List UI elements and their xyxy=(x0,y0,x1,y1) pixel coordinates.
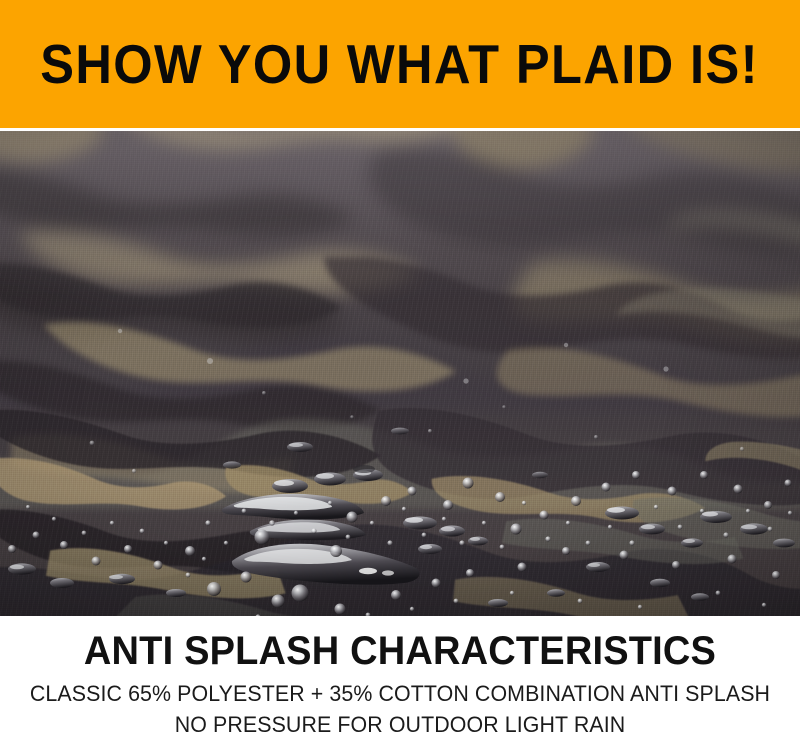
product-feature-poster: SHOW YOU WHAT PLAID IS! xyxy=(0,0,800,751)
caption-subtitle-line-1: CLASSIC 65% POLYESTER + 35% COTTON COMBI… xyxy=(20,679,780,709)
caption-subtitle-line-2: NO PRESSURE FOR OUTDOOR LIGHT RAIN xyxy=(20,710,780,740)
header-title: SHOW YOU WHAT PLAID IS! xyxy=(41,37,760,92)
product-photo xyxy=(0,131,800,616)
header-banner: SHOW YOU WHAT PLAID IS! xyxy=(0,0,800,128)
caption-heading: ANTI SPLASH CHARACTERISTICS xyxy=(20,630,780,672)
caption-block: ANTI SPLASH CHARACTERISTICS CLASSIC 65% … xyxy=(0,616,800,751)
camo-pattern-foreground xyxy=(0,407,800,616)
